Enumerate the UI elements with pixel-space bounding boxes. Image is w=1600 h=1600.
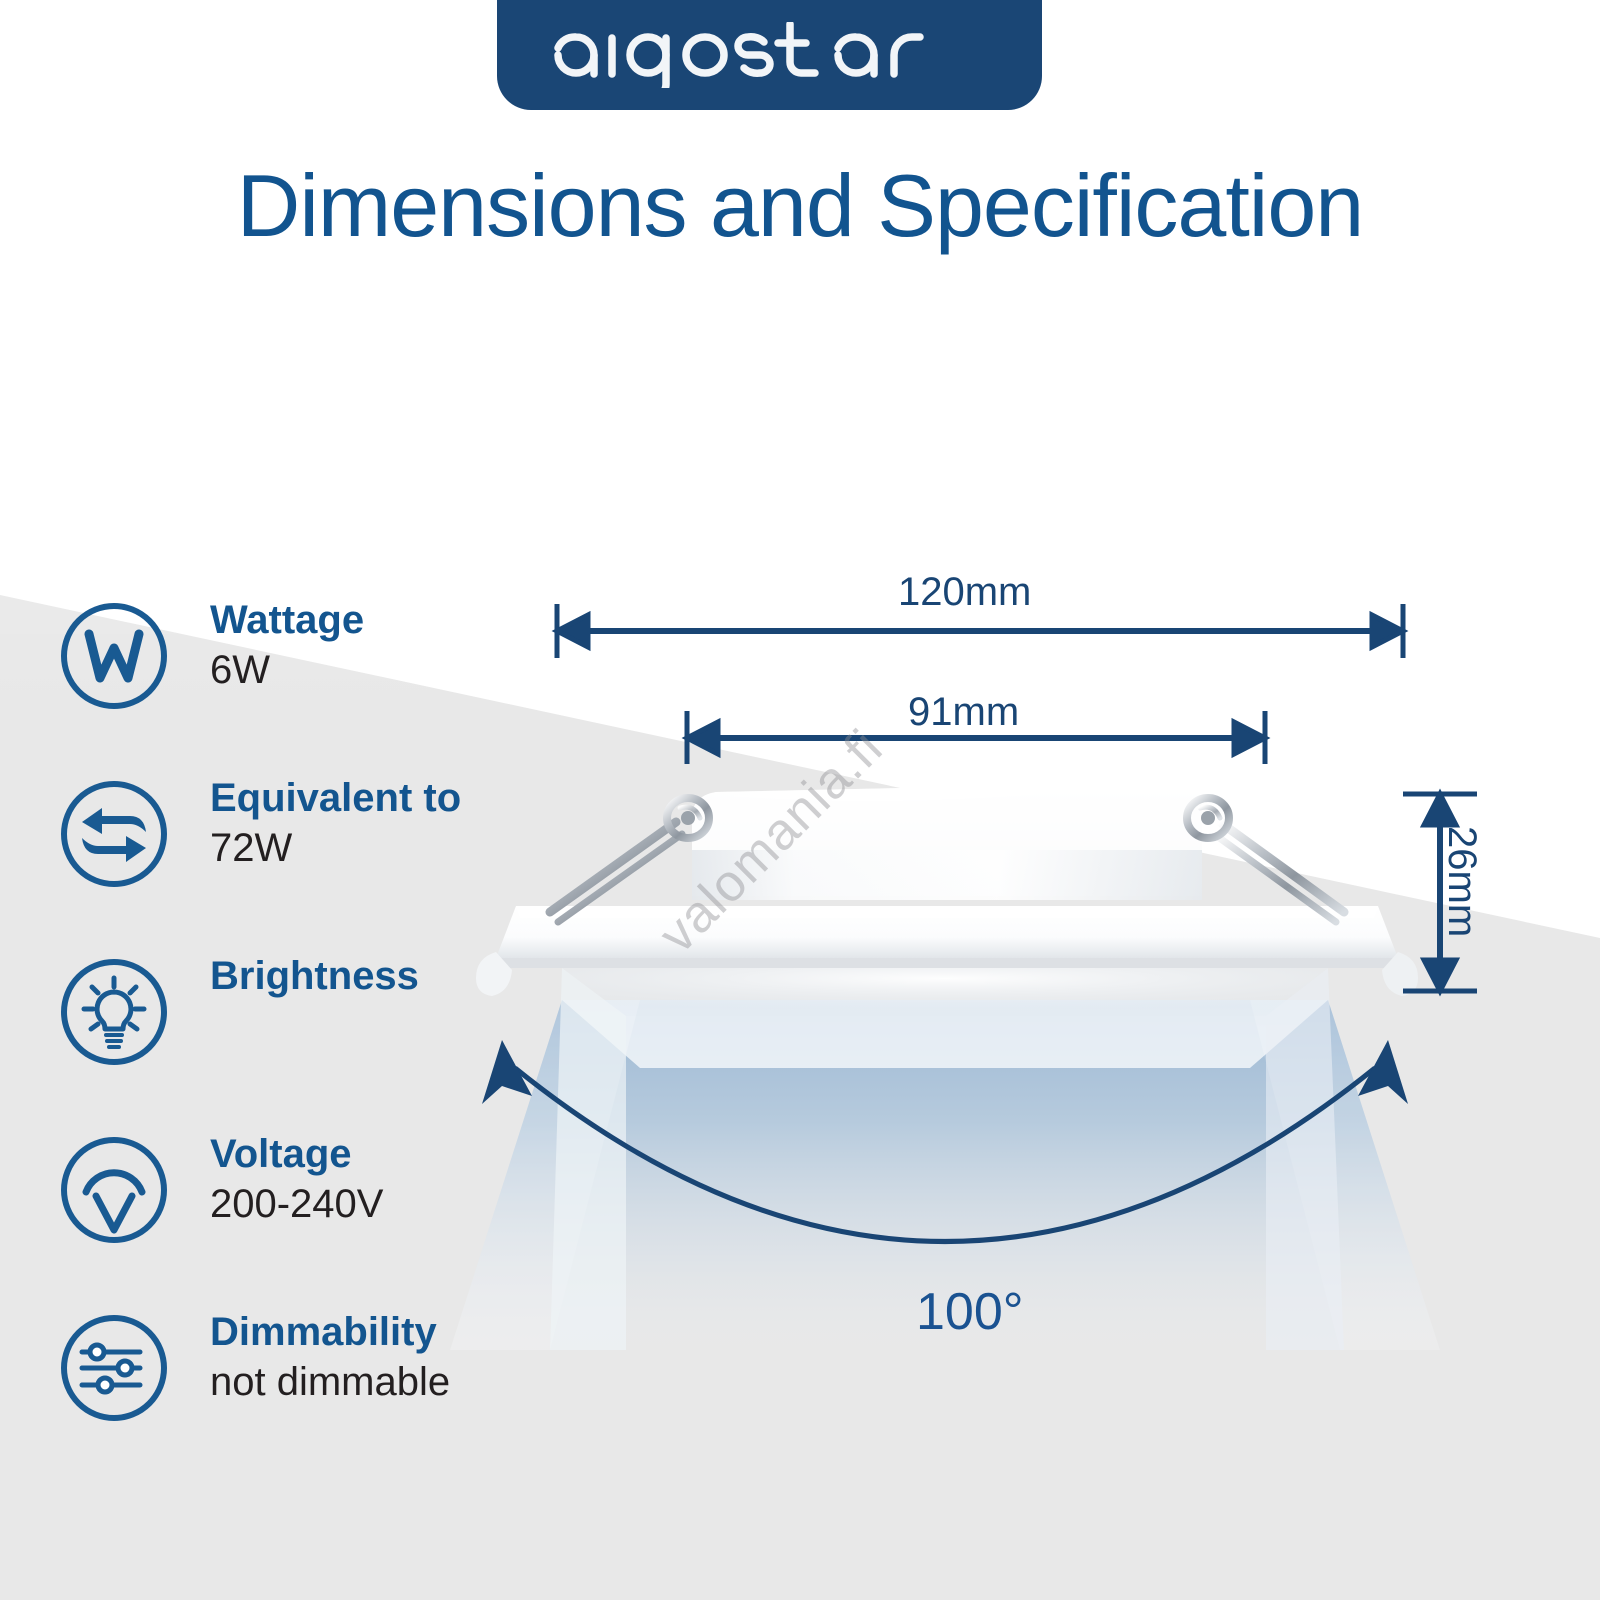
dimension-label-height: 26mm [1439,826,1484,937]
beam-angle-label: 100° [916,1282,1024,1342]
spec-row-wattage: Wattage 6W [58,596,528,774]
spec-value-voltage: 200-240V [210,1179,540,1229]
aigostar-logo [550,22,990,88]
spec-label-voltage: Voltage [210,1130,540,1179]
product-spec-sheet: Dimensions and Specification [0,0,1600,1600]
spec-value-equivalent: 72W [210,823,540,873]
dimension-label-outer-width: 120mm [898,570,1031,615]
specification-list: Wattage 6W Equivalent to 72W [58,596,528,1486]
spec-value-dimmability: not dimmable [210,1357,540,1407]
spec-row-dimmability: Dimmability not dimmable [58,1308,528,1486]
dimension-label-cutout-width: 91mm [908,690,1019,735]
brand-logo-banner [497,0,1042,110]
spec-row-brightness: Brightness [58,952,528,1130]
dimmability-sliders-icon [58,1312,170,1424]
wattage-w-circle-icon [58,600,170,712]
spec-label-equivalent: Equivalent to [210,774,540,823]
voltage-v-circle-icon [58,1134,170,1246]
equivalent-exchange-arrows-icon [58,778,170,890]
page-title: Dimensions and Specification [0,155,1600,257]
spec-label-brightness: Brightness [210,952,540,1001]
spec-label-wattage: Wattage [210,596,540,645]
spec-row-equivalent: Equivalent to 72W [58,774,528,952]
spec-label-dimmability: Dimmability [210,1308,540,1357]
spec-value-wattage: 6W [210,645,540,695]
beam-angle-arc [440,1020,1450,1290]
brightness-bulb-icon [58,956,170,1068]
spec-row-voltage: Voltage 200-240V [58,1130,528,1308]
